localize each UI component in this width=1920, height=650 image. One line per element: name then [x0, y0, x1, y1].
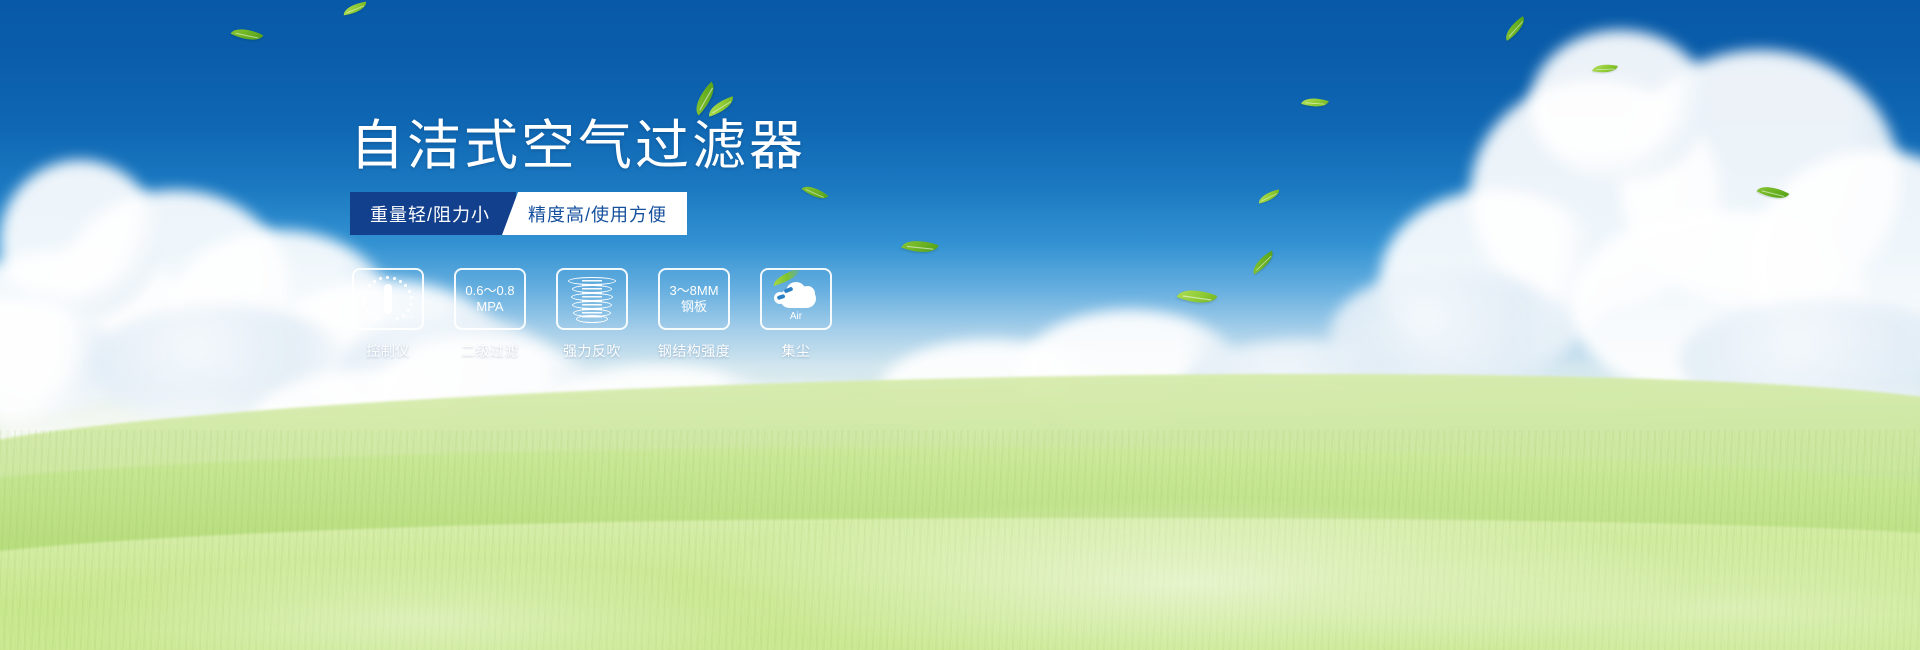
air-label: Air — [770, 311, 822, 324]
dial-label-off: OFF — [403, 315, 414, 321]
dial-needle — [384, 284, 392, 314]
grass-field — [0, 350, 1920, 650]
feature-box-control: NO OFF — [352, 268, 424, 330]
feature-box-pressure: 0.6～0.8 MPA — [454, 268, 526, 330]
feature-list: NO OFF 控制仪 0.6～0.8 MPA 二级过滤 — [352, 268, 832, 361]
tagline-badge-primary: 重量轻/阻力小 — [350, 192, 516, 235]
feature-item: 3～8MM 钢板 钢结构强度 — [658, 268, 730, 361]
feature-item: 0.6～0.8 MPA 二级过滤 — [454, 268, 526, 361]
product-banner: 自洁式空气过滤器 重量轻/阻力小 精度高/使用方便 — [0, 0, 1920, 650]
feature-caption: 控制仪 — [366, 341, 410, 361]
dial-label-no: NO — [361, 300, 369, 306]
tagline-badge-secondary: 精度高/使用方便 — [502, 192, 687, 235]
control-dial-icon: NO OFF — [361, 275, 415, 323]
page-title: 自洁式空气过滤器 — [350, 115, 806, 177]
tagline-badges: 重量轻/阻力小 精度高/使用方便 — [350, 192, 687, 235]
feature-box-dust: Air — [760, 268, 832, 330]
feature-box-backblow — [556, 268, 628, 330]
feature-item: 强力反吹 — [556, 268, 628, 361]
air-cloud-icon: Air — [770, 276, 822, 322]
feature-caption: 钢结构强度 — [658, 341, 731, 361]
feature-caption: 集尘 — [782, 341, 811, 361]
feature-caption: 强力反吹 — [563, 341, 621, 361]
feature-box-steel: 3～8MM 钢板 — [658, 268, 730, 330]
feature-caption: 二级过滤 — [461, 341, 519, 361]
feature-item: Air 集尘 — [760, 268, 832, 361]
feature-item: NO OFF 控制仪 — [352, 268, 424, 361]
filter-stack-icon — [570, 276, 614, 322]
